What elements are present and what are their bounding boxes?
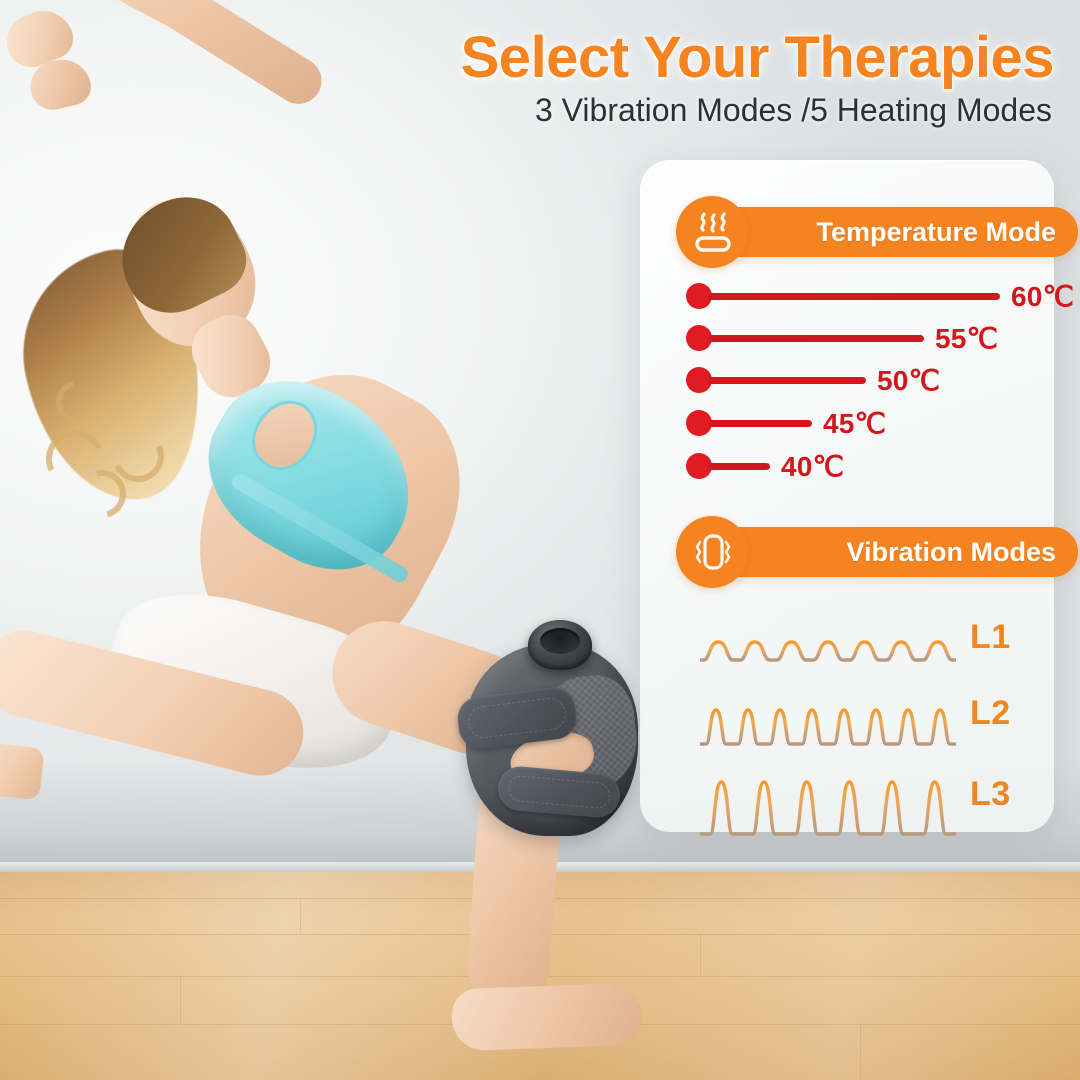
temperature-level-bar: [708, 420, 812, 427]
temperature-level-row[interactable]: 50℃: [686, 367, 940, 393]
vibration-level-label: L2: [970, 694, 1011, 733]
temperature-level-bar: [708, 377, 866, 384]
vibration-waveform: [700, 748, 956, 840]
vibration-level-label: L3: [970, 775, 1011, 814]
vibration-badge-pill: Vibration Modes: [712, 527, 1078, 577]
page-title: Select Your Therapies: [0, 24, 1080, 91]
temperature-level-label: 45℃: [823, 407, 886, 440]
temperature-level-bar: [708, 293, 1000, 300]
temperature-level-label: 40℃: [781, 450, 844, 483]
knee-brace-product: [452, 618, 652, 840]
temperature-level-bar: [708, 335, 924, 342]
vibration-level-row[interactable]: L3: [700, 748, 1050, 840]
temperature-badge-label: Temperature Mode: [816, 217, 1056, 248]
temperature-level-bar: [708, 463, 770, 470]
temperature-level-row[interactable]: 40℃: [686, 453, 844, 479]
vibrating-device-icon: [692, 530, 734, 574]
temperature-level-row[interactable]: 45℃: [686, 410, 886, 436]
vibration-waveform: [700, 676, 956, 750]
temperature-level-label: 55℃: [935, 322, 998, 355]
temperature-level-label: 60℃: [1011, 280, 1074, 313]
front-foot: [451, 983, 643, 1052]
vibration-waveform: [700, 608, 956, 666]
back-foot: [0, 740, 44, 801]
vibration-badge-label: Vibration Modes: [846, 537, 1056, 568]
vibration-level-label: L1: [970, 618, 1011, 657]
temperature-level-row[interactable]: 55℃: [686, 325, 998, 351]
vibration-level-row[interactable]: L1: [700, 608, 1050, 666]
heat-waves-icon: [692, 210, 734, 254]
infographic-stage: Select Your Therapies 3 Vibration Modes …: [0, 0, 1080, 1080]
brace-knob-ring: [540, 628, 580, 654]
temperature-level-row[interactable]: 60℃: [686, 283, 1074, 309]
page-subtitle: 3 Vibration Modes /5 Heating Modes: [0, 92, 1080, 129]
model-figure: [0, 0, 700, 1080]
temperature-badge-pill: Temperature Mode: [712, 207, 1078, 257]
temperature-level-label: 50℃: [877, 364, 940, 397]
vibration-level-row[interactable]: L2: [700, 676, 1050, 750]
